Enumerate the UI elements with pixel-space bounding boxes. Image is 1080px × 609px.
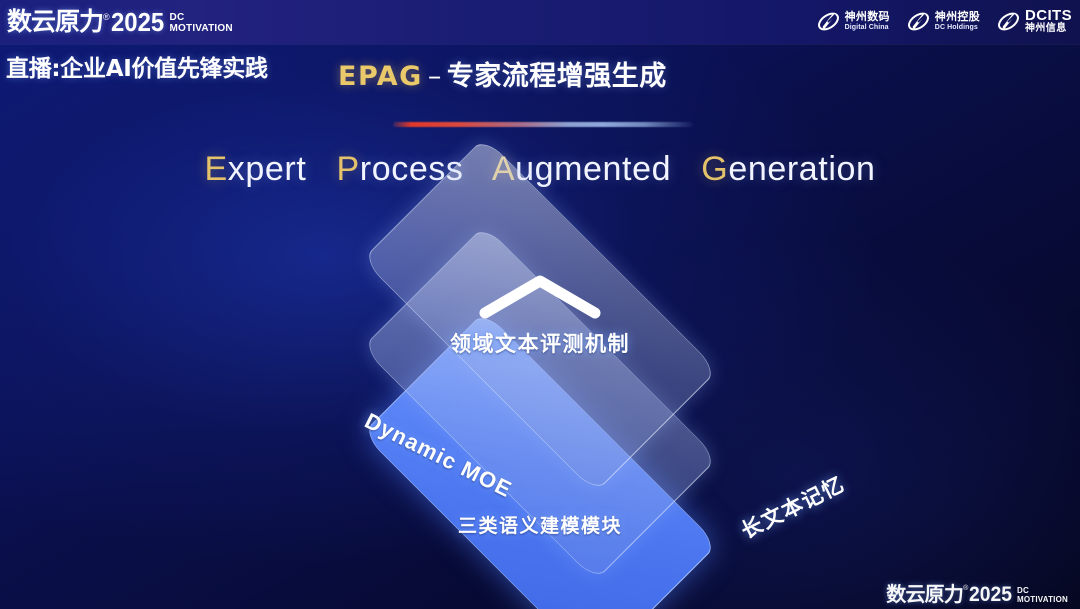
subtitle-word-body: eneration (728, 150, 875, 188)
registered-mark-icon: ® (963, 583, 968, 595)
subtitle-initial: G (701, 150, 728, 188)
partner-label-block: DCITS 神州信息 (1025, 8, 1072, 34)
watermark-name-cn: 数云原力 (886, 584, 963, 605)
subtitle-space (316, 150, 326, 188)
subtitle-space (681, 150, 691, 188)
subtitle-word-body: xpert (228, 150, 307, 188)
chevron-up-icon (477, 271, 603, 321)
partner-logo-dc-holdings: 神州控股 DC Holdings (906, 9, 980, 34)
diagram-label-bottom: 三类语义建模模块 (290, 511, 790, 538)
stacked-layers-diagram: 领域文本评测机制 Dynamic MOE 长文本记忆 三类语义建模模块 (290, 228, 790, 558)
watermark-year: 2025 (969, 584, 1012, 605)
subtitle-initial: E (205, 150, 228, 188)
watermark-dc-motivation: DC MOTIVATION (1017, 587, 1068, 604)
brand-motivation-label: MOTIVATION (170, 23, 233, 34)
brand-dc-motivation: DC MOTIVATION (170, 13, 233, 34)
diagram-label-top: 领域文本评测机制 (290, 328, 790, 358)
partner-logo-group: 神州数码 Digital China 神州控股 DC Holdings (816, 5, 1072, 37)
page-title: EPAG–专家流程增强生成 (338, 54, 667, 93)
partner-name-en: Digital China (845, 24, 890, 31)
swoosh-icon (906, 9, 931, 34)
registered-mark-icon: ® (103, 11, 110, 23)
subtitle-word-expert: Expert (205, 150, 307, 188)
partner-logo-digital-china: 神州数码 Digital China (816, 9, 890, 34)
swoosh-icon (996, 9, 1021, 34)
title-chinese: 专家流程增强生成 (447, 61, 667, 92)
partner-label-block: 神州控股 DC Holdings (935, 11, 980, 31)
brand-logo-top-left: 数云原力 ® 2025 DC MOTIVATION (7, 5, 233, 35)
subtitle-word-generation: Generation (701, 150, 875, 188)
partner-name-cn: 神州信息 (1025, 24, 1072, 34)
livestream-label: 直播:企业AI价值先锋实践 (6, 49, 268, 83)
accent-divider (393, 122, 693, 127)
partner-logo-dcits: DCITS 神州信息 (996, 8, 1072, 34)
subtitle-initial: P (337, 150, 360, 188)
brand-year: 2025 (111, 9, 164, 35)
title-dash: – (428, 61, 442, 92)
brand-dc-label: DC (170, 13, 233, 23)
title-acronym: EPAG (338, 61, 423, 92)
swoosh-icon (816, 9, 841, 34)
brand-watermark-bottom-right: 数云原力 ® 2025 DC MOTIVATION (886, 583, 1068, 605)
watermark-motivation-label: MOTIVATION (1017, 596, 1068, 605)
subtitle: Expert Process Augmented Generation (0, 150, 1080, 189)
brand-name-cn: 数云原力 (7, 9, 103, 35)
slide-canvas: 数云原力 ® 2025 DC MOTIVATION 神州数码 Digital C… (0, 0, 1080, 609)
partner-name-en: DCITS (1025, 8, 1072, 23)
subtitle-word-body: ugmented (515, 150, 671, 188)
partner-name-cn: 神州数码 (845, 11, 890, 22)
partner-name-cn: 神州控股 (935, 11, 980, 22)
partner-label-block: 神州数码 Digital China (845, 11, 890, 31)
partner-name-en: DC Holdings (935, 24, 980, 31)
